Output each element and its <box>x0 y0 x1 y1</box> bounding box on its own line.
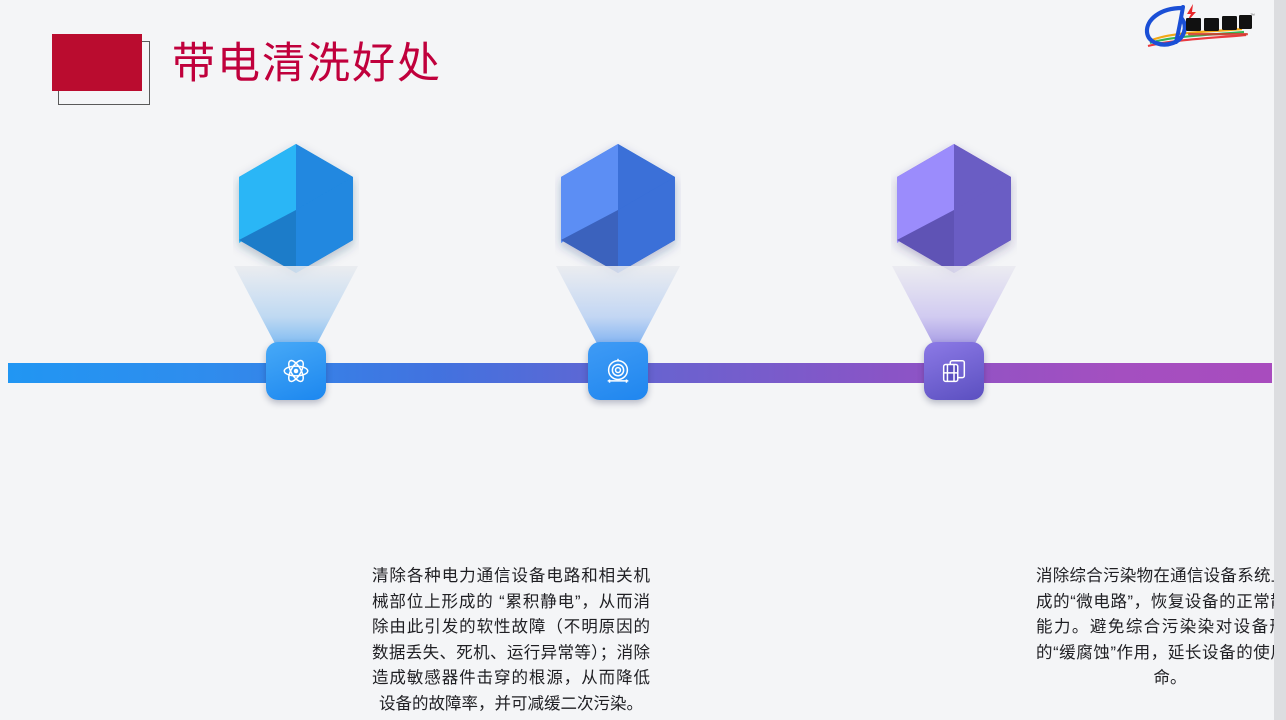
slide-right-gutter <box>1274 0 1286 720</box>
cube-2-icon <box>555 140 681 280</box>
page-title: 带电清洗好处 <box>172 38 442 90</box>
timeline-chip-3[interactable] <box>924 342 984 400</box>
node-2-description: 消除综合污染物在通信设备系统上形成的“微电路”，恢复设备的正常散热能力。避免综合… <box>1036 564 1274 692</box>
slide-canvas: 带电清洗好处 ™ <box>0 0 1274 720</box>
cube-3-icon <box>891 140 1017 280</box>
title-marker-square <box>52 34 142 91</box>
cube-1-icon <box>233 140 359 280</box>
svg-text:™: ™ <box>1250 13 1255 19</box>
timeline-node-3[interactable]: 提高设备的电气绝缘值，恢复电路板及元器件的正常表面阻抗，形成特殊保护作用。使设备… <box>854 140 1054 410</box>
film-frames-icon <box>939 356 969 386</box>
timeline-chip-2[interactable] <box>588 342 648 400</box>
timeline-chip-1[interactable] <box>266 342 326 400</box>
company-logo: ™ <box>1138 2 1256 50</box>
node-1-description: 清除各种电力通信设备电路和相关机械部位上形成的 “累积静电”，从而消除由此引发的… <box>372 564 650 717</box>
timeline-node-2[interactable]: 消除综合污染物在通信设备系统上形成的“微电路”，恢复设备的正常散热能力。避免综合… <box>518 140 718 410</box>
target-camera-icon <box>603 356 633 386</box>
timeline-node-1[interactable]: 清除各种电力通信设备电路和相关机械部位上形成的 “累积静电”，从而消除由此引发的… <box>196 140 396 410</box>
atom-icon <box>281 356 311 386</box>
